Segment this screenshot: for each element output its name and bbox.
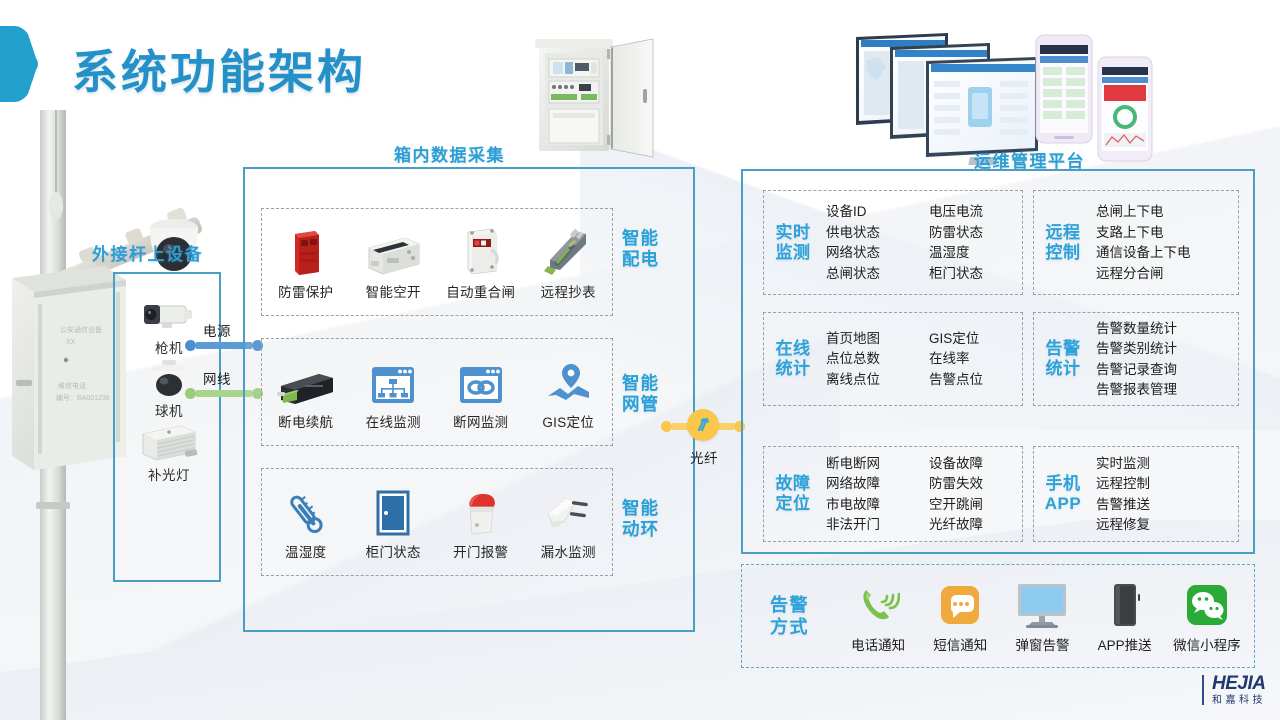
device-label: 开门报警 <box>441 541 521 561</box>
card-item: 告警类别统计 <box>1096 339 1238 359</box>
card-item: 防雷失效 <box>929 474 1022 494</box>
card-tag-line1: 告警 <box>1034 339 1092 359</box>
device-gis-location[interactable]: GIS定位 <box>528 354 608 431</box>
card-item: 市电故障 <box>826 495 919 515</box>
card-item: 离线点位 <box>826 370 919 390</box>
row-tag-line1: 智能 <box>622 228 684 249</box>
device-label: 远程抄表 <box>528 281 608 301</box>
card-tag-line2: APP <box>1034 494 1092 514</box>
connector-label-network: 网线 <box>203 368 231 388</box>
page-title: 系统功能架构 <box>72 36 366 102</box>
card-tag: 故障 定位 <box>764 474 822 514</box>
battery-backup-icon <box>266 354 346 406</box>
row-tag-line1: 智能 <box>622 373 684 394</box>
card-item: 远程分合闸 <box>1096 264 1238 284</box>
device-water-leak-monitor[interactable]: 漏水监测 <box>528 484 608 561</box>
card-item: 网络故障 <box>826 474 919 494</box>
alarm-methods-list: 电话通知 短信通知 <box>837 579 1254 654</box>
card-item: 防雷状态 <box>929 223 1022 243</box>
card-item: 远程控制 <box>1096 474 1238 494</box>
platform-card-fault-location[interactable]: 故障 定位 断电断网 设备故障 网络故障 防雷失效 市电故障 空开跳闸 非法开门… <box>763 446 1023 542</box>
thermometer-icon <box>266 484 346 536</box>
card-item: 远程修复 <box>1096 515 1238 535</box>
card-tag: 远程 控制 <box>1034 223 1092 263</box>
box-row-smart-environment: 温湿度 柜门状态 开门报警 <box>261 468 613 576</box>
surge-protector-icon <box>266 224 346 276</box>
card-tag: 手机 APP <box>1034 474 1092 514</box>
connector-label-fiber: 光纤 <box>690 447 718 467</box>
device-label: 漏水监测 <box>528 541 608 561</box>
card-items: 首页地图 GIS定位 点位总数 在线率 离线点位 告警点位 <box>822 329 1022 390</box>
online-monitor-icon <box>353 354 433 406</box>
platform-card-online-statistics[interactable]: 在线 统计 首页地图 GIS定位 点位总数 在线率 离线点位 告警点位 <box>763 312 1023 406</box>
card-item: 总闸上下电 <box>1096 202 1238 222</box>
card-item: 告警报表管理 <box>1096 380 1238 400</box>
alarm-method-sms[interactable]: 短信通知 <box>920 579 1000 654</box>
gis-location-icon <box>528 354 608 406</box>
device-door-alarm[interactable]: 开门报警 <box>441 484 521 561</box>
device-label: 在线监测 <box>353 411 433 431</box>
card-item: 在线率 <box>929 349 1022 369</box>
card-tag-line1: 手机 <box>1034 474 1092 494</box>
card-item: 实时监测 <box>1096 454 1238 474</box>
svg-text:维修电话: 维修电话 <box>58 381 86 390</box>
pole-equipment-panel: 枪机 球机 <box>113 272 221 582</box>
alarm-tag-line1: 告警 <box>742 594 837 616</box>
fiber-link-icon <box>687 409 719 441</box>
card-tag-line1: 实时 <box>764 223 822 243</box>
card-item: 空开跳闸 <box>929 495 1022 515</box>
alarm-method-label: 微信小程序 <box>1167 634 1247 654</box>
card-item: 告警推送 <box>1096 495 1238 515</box>
platform-card-realtime-monitoring[interactable]: 实时 监测 设备ID 电压电流 供电状态 防雷状态 网络状态 温湿度 总闸状态 … <box>763 190 1023 295</box>
svg-text:编号：BA001238: 编号：BA001238 <box>56 393 110 402</box>
footer-logo: HEJIA 和嘉科技 <box>1202 674 1266 706</box>
fill-light-icon <box>115 421 223 463</box>
row-tag-line2: 配电 <box>622 249 684 270</box>
card-items: 实时监测 远程控制 告警推送 远程修复 <box>1092 454 1238 535</box>
platform-card-alarm-statistics[interactable]: 告警 统计 告警数量统计 告警类别统计 告警记录查询 告警报表管理 <box>1033 312 1239 406</box>
device-network-break-monitor[interactable]: 断网监测 <box>441 354 521 431</box>
card-item: 供电状态 <box>826 223 919 243</box>
alarm-panel-tag: 告警 方式 <box>742 594 837 638</box>
card-item: 总闸状态 <box>826 264 919 284</box>
caption-pole-equipment: 外接杆上设备 <box>92 240 203 265</box>
box-row-smart-distribution: 防雷保护 智能空开 <box>261 208 613 316</box>
card-tag-line2: 控制 <box>1034 243 1092 263</box>
card-items: 断电断网 设备故障 网络故障 防雷失效 市电故障 空开跳闸 非法开门 光纤故障 <box>822 454 1022 535</box>
row-tag-line2: 动环 <box>622 519 684 540</box>
smart-breaker-icon <box>353 224 433 276</box>
remote-meter-icon <box>528 224 608 276</box>
pole-item-label: 补光灯 <box>115 464 223 484</box>
card-item: 告警点位 <box>929 370 1022 390</box>
card-tag-line2: 统计 <box>1034 359 1092 379</box>
card-item: 柜门状态 <box>929 264 1022 284</box>
alarm-methods-panel: 告警 方式 电话通知 <box>741 564 1255 668</box>
card-item: 温湿度 <box>929 243 1022 263</box>
smartphone-icon <box>1085 579 1165 631</box>
logo-divider <box>1202 675 1204 705</box>
platform-card-remote-control[interactable]: 远程 控制 总闸上下电 支路上下电 通信设备上下电 远程分合闸 <box>1033 190 1239 295</box>
auto-recloser-icon <box>441 224 521 276</box>
card-tag: 在线 统计 <box>764 339 822 379</box>
card-item: 设备故障 <box>929 454 1022 474</box>
pole-item-label: 球机 <box>115 400 223 420</box>
alarm-method-phone-call[interactable]: 电话通知 <box>838 579 918 654</box>
card-item: 首页地图 <box>826 329 919 349</box>
logo-wordmark: HEJIA <box>1212 674 1266 693</box>
card-tag-line2: 监测 <box>764 243 822 263</box>
device-surge-protector[interactable]: 防雷保护 <box>266 224 346 301</box>
row-tag-line2: 网管 <box>622 394 684 415</box>
connector-label-power: 电源 <box>203 320 231 340</box>
sms-bubble-icon <box>920 579 1000 631</box>
card-item: 通信设备上下电 <box>1096 243 1238 263</box>
wechat-icon <box>1167 579 1247 631</box>
alarm-tag-line2: 方式 <box>742 616 837 638</box>
alarm-method-label: 弹窗告警 <box>1002 634 1082 654</box>
device-label: GIS定位 <box>528 411 608 431</box>
card-item: 告警记录查询 <box>1096 360 1238 380</box>
device-cabinet-door-status[interactable]: 柜门状态 <box>353 484 433 561</box>
box-row-smart-network: 断电续航 <box>261 338 613 446</box>
platform-devices-photo <box>848 25 1163 165</box>
cabinet-door-icon <box>353 484 433 536</box>
caption-box-data-collection: 箱内数据采集 <box>394 141 505 166</box>
card-item: 支路上下电 <box>1096 223 1238 243</box>
device-label: 断电续航 <box>266 411 346 431</box>
logo-subtitle: 和嘉科技 <box>1212 696 1266 706</box>
svg-text:公安通信设备: 公安通信设备 <box>60 325 102 334</box>
box-row-tag-smart-environment: 智能 动环 <box>622 498 684 540</box>
network-break-icon <box>441 354 521 406</box>
card-item: 电压电流 <box>929 202 1022 222</box>
card-item: 告警数量统计 <box>1096 319 1238 339</box>
box-row-tag-smart-network: 智能 网管 <box>622 373 684 415</box>
pole-item-fill-light[interactable]: 补光灯 <box>115 421 223 484</box>
card-item: 断电断网 <box>826 454 919 474</box>
device-remote-meter[interactable]: 远程抄表 <box>528 224 608 301</box>
card-tag-line1: 故障 <box>764 474 822 494</box>
desktop-popup-icon <box>1002 579 1082 631</box>
device-battery-backup[interactable]: 断电续航 <box>266 354 346 431</box>
phone-call-icon <box>838 579 918 631</box>
card-item: GIS定位 <box>929 329 1022 349</box>
device-label: 防雷保护 <box>266 281 346 301</box>
header-chevron-icon <box>0 16 40 112</box>
card-tag-line2: 定位 <box>764 494 822 514</box>
device-online-monitor[interactable]: 在线监测 <box>353 354 433 431</box>
door-alarm-siren-icon <box>441 484 521 536</box>
alarm-method-app-push[interactable]: APP推送 <box>1085 579 1165 654</box>
alarm-method-label: APP推送 <box>1085 634 1165 654</box>
platform-card-mobile-app[interactable]: 手机 APP 实时监测 远程控制 告警推送 远程修复 <box>1033 446 1239 542</box>
alarm-method-wechat-miniprogram[interactable]: 微信小程序 <box>1167 579 1247 654</box>
device-label: 断网监测 <box>441 411 521 431</box>
box-row-tag-smart-distribution: 智能 配电 <box>622 228 684 270</box>
device-label: 智能空开 <box>353 281 433 301</box>
card-items: 设备ID 电压电流 供电状态 防雷状态 网络状态 温湿度 总闸状态 柜门状态 <box>822 202 1022 283</box>
card-tag-line1: 远程 <box>1034 223 1092 243</box>
alarm-method-desktop-popup[interactable]: 弹窗告警 <box>1002 579 1082 654</box>
device-label: 自动重合闸 <box>441 281 521 301</box>
svg-text:XX: XX <box>66 339 76 346</box>
card-items: 总闸上下电 支路上下电 通信设备上下电 远程分合闸 <box>1092 202 1238 283</box>
device-label: 温湿度 <box>266 541 346 561</box>
alarm-method-label: 短信通知 <box>920 634 1000 654</box>
device-smart-breaker[interactable]: 智能空开 <box>353 224 433 301</box>
distribution-cabinet-photo <box>527 27 677 177</box>
card-tag: 实时 监测 <box>764 223 822 263</box>
device-label: 柜门状态 <box>353 541 433 561</box>
card-item: 网络状态 <box>826 243 919 263</box>
card-tag: 告警 统计 <box>1034 339 1092 379</box>
card-item: 光纤故障 <box>929 515 1022 535</box>
card-item: 非法开门 <box>826 515 919 535</box>
card-item: 点位总数 <box>826 349 919 369</box>
card-tag-line2: 统计 <box>764 359 822 379</box>
device-temperature-humidity[interactable]: 温湿度 <box>266 484 346 561</box>
card-items: 告警数量统计 告警类别统计 告警记录查询 告警报表管理 <box>1092 319 1238 400</box>
card-item: 设备ID <box>826 202 919 222</box>
device-auto-recloser[interactable]: 自动重合闸 <box>441 224 521 301</box>
water-leak-icon <box>528 484 608 536</box>
card-tag-line1: 在线 <box>764 339 822 359</box>
row-tag-line1: 智能 <box>622 498 684 519</box>
alarm-method-label: 电话通知 <box>838 634 918 654</box>
